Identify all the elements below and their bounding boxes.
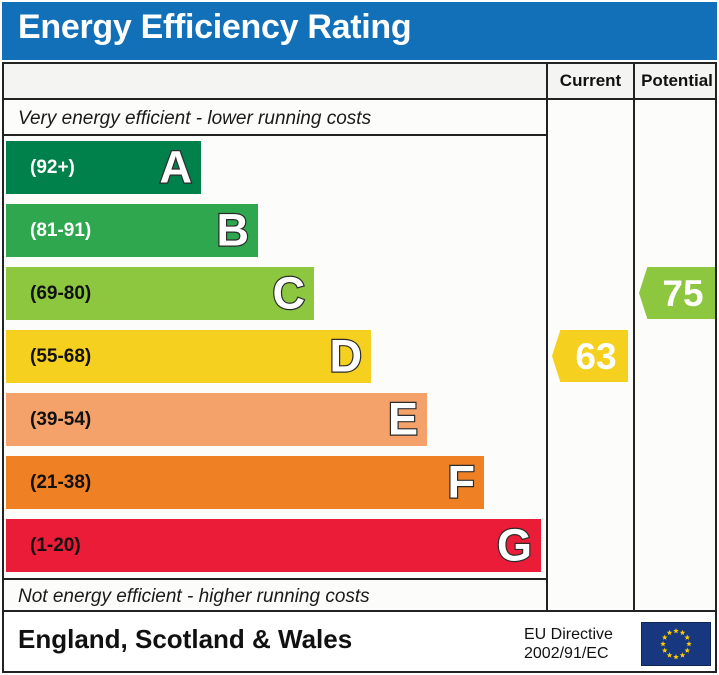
band-bar-g: (1-20)G <box>6 519 541 572</box>
band-bar-d: (55-68)D <box>6 330 371 383</box>
footer: England, Scotland & Wales EU Directive 2… <box>2 612 717 673</box>
band-letter-g: G <box>497 522 532 567</box>
band-letter-d: D <box>330 333 363 378</box>
footer-region-label: England, Scotland & Wales <box>18 624 352 655</box>
band-range-label-e: (39-54) <box>30 409 91 431</box>
caption-top: Very energy efficient - lower running co… <box>18 108 371 130</box>
footer-directive-label: EU Directive 2002/91/EC <box>524 625 613 663</box>
caption-bottom: Not energy efficient - higher running co… <box>18 586 370 608</box>
eu-flag-icon <box>641 622 711 666</box>
eu-star <box>684 648 690 653</box>
band-bar-e: (39-54)E <box>6 393 427 446</box>
eu-star <box>680 630 686 635</box>
band-letter-f: F <box>448 459 476 504</box>
band-range-label-d: (55-68) <box>30 346 91 368</box>
eu-star <box>667 630 673 635</box>
column-header-potential: Potential <box>635 64 719 100</box>
rating-value-potential: 75 <box>650 275 703 312</box>
column-divider-potential <box>633 64 635 610</box>
rating-arrow-potential: 75 <box>639 267 715 319</box>
eu-star <box>684 635 690 640</box>
band-letter-a: A <box>160 144 193 189</box>
eu-star <box>667 652 673 657</box>
eu-star <box>673 628 679 633</box>
band-range-label-f: (21-38) <box>30 472 91 494</box>
eu-star <box>662 648 668 653</box>
band-bars: (92+)A(81-91)B(69-80)C(55-68)D(39-54)E(2… <box>6 136 546 578</box>
rating-arrow-current: 63 <box>552 330 628 382</box>
eu-star <box>662 635 668 640</box>
column-header-current: Current <box>548 64 633 100</box>
page-title: Energy Efficiency Rating <box>18 8 411 47</box>
band-letter-b: B <box>217 207 250 252</box>
directive-line-1: EU Directive <box>524 625 613 644</box>
band-bar-f: (21-38)F <box>6 456 484 509</box>
eu-star <box>686 641 692 646</box>
band-range-label-c: (69-80) <box>30 283 91 305</box>
eu-star <box>673 654 679 659</box>
band-letter-c: C <box>273 270 306 315</box>
band-bar-a: (92+)A <box>6 141 201 194</box>
rating-table: Current Potential Very energy efficient … <box>2 62 717 612</box>
band-bar-b: (81-91)B <box>6 204 258 257</box>
band-letter-e: E <box>388 396 418 441</box>
eu-star <box>660 641 666 646</box>
energy-efficiency-rating-chart: Energy Efficiency Rating Current Potenti… <box>0 0 719 675</box>
title-banner: Energy Efficiency Rating <box>2 2 717 60</box>
eu-star <box>680 652 686 657</box>
band-range-label-g: (1-20) <box>30 535 81 557</box>
band-bar-c: (69-80)C <box>6 267 314 320</box>
column-divider-current <box>546 64 548 610</box>
directive-line-2: 2002/91/EC <box>524 644 613 663</box>
band-range-label-a: (92+) <box>30 157 75 179</box>
eu-flag-stars-icon <box>642 623 710 665</box>
rating-value-current: 63 <box>563 338 616 375</box>
band-range-label-b: (81-91) <box>30 220 91 242</box>
caption-rule-bottom <box>4 578 546 580</box>
